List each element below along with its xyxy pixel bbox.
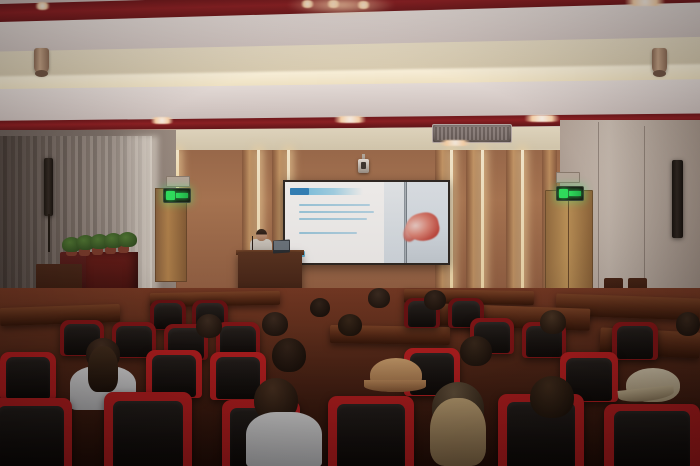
attendee-head [272,338,306,372]
attendee-head [338,314,362,336]
auditorium-photo [0,0,700,466]
exit-sign-left [163,188,191,203]
seat-pad [617,326,654,359]
attendee-shoulders [246,412,322,466]
cap-brim [364,380,426,392]
ceiling-cylinder-fixture [652,48,667,74]
seat-pad [614,411,691,466]
cap-tan-left [370,358,422,392]
seat-pad [337,404,406,466]
speaker-stand [48,214,50,252]
ceiling-spotlight [520,115,564,122]
ceiling-spotlight [148,117,176,124]
blonde-attendee-hair [430,398,486,466]
auditorium-seat[interactable] [146,350,202,398]
auditorium-seat[interactable] [0,398,72,466]
column-speaker-icon [672,160,683,238]
ceiling-spotlight [34,2,51,10]
attendee-head [676,312,700,336]
attendee-head [262,312,288,336]
ceiling-cylinder-fixture [34,48,49,74]
attendee-head [530,376,574,418]
attendee-head [540,310,566,334]
ceiling-camera-icon [358,159,369,173]
attendee-head [424,290,446,310]
auditorium-seat[interactable] [104,392,192,466]
ceiling-spotlight [620,0,670,6]
auditorium-seat[interactable] [612,322,658,360]
projection-screen [283,180,450,265]
seat-pad [0,406,64,466]
auditorium-seat[interactable] [328,396,414,466]
slide-body-line [299,204,371,206]
slide-photo-pane [384,182,448,263]
slide-body-line [299,218,367,220]
attendee-head [368,288,390,308]
cap-beige-right [626,368,680,402]
screen-surface [285,182,448,263]
door-right[interactable] [545,190,593,304]
slide-body-line [299,232,357,234]
presenter-head [256,229,267,241]
attendee-head [196,314,222,338]
attendee-head [460,336,492,366]
emergency-light-box [556,172,580,183]
seat-pad [113,401,183,466]
seat-pad [216,357,261,398]
seat-pad [6,357,51,398]
slide-header-bar [290,188,363,195]
door-right-seam [568,190,569,302]
potted-plant [118,232,137,247]
laptop-screen [274,241,289,250]
seat-pad [152,355,197,396]
photo-background [384,182,403,263]
auditorium-seat[interactable] [0,352,56,400]
seat-pad [116,326,151,357]
auditorium-seat[interactable] [604,404,700,466]
ceiling-spotlight [436,140,474,146]
exit-sign-right [556,186,584,201]
wall-speaker-icon [44,158,53,216]
attendee-hair [88,346,118,392]
slide-body-line [299,211,375,213]
attendee-head [310,298,330,317]
ceiling-spotlight [330,116,370,123]
slide-title-tag [290,188,309,195]
emergency-light-box [166,176,190,187]
